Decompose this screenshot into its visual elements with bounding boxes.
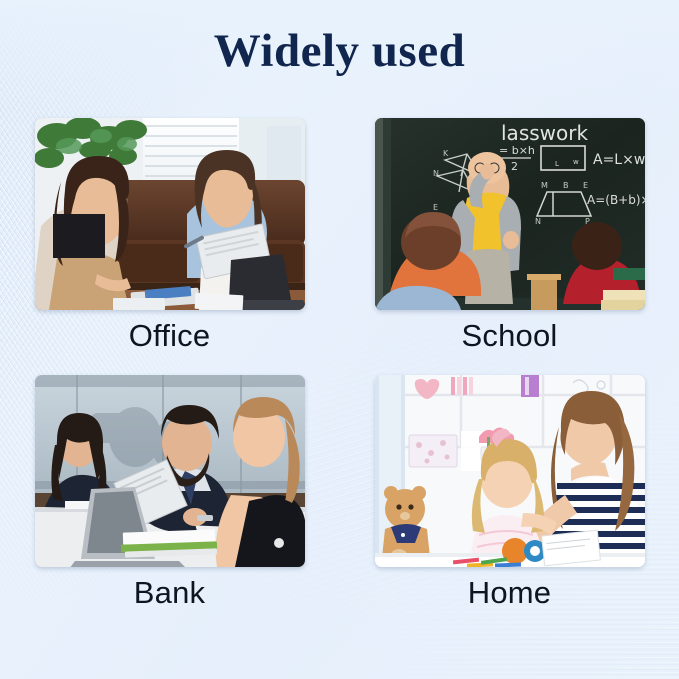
office-illustration [35, 118, 305, 310]
svg-text:N: N [535, 217, 541, 226]
office-caption: Office [129, 319, 211, 353]
svg-text:2: 2 [511, 160, 518, 173]
page-title: Widely used [0, 24, 679, 78]
usage-grid-row-1: Office l [0, 118, 679, 353]
svg-text:E: E [583, 181, 588, 190]
bank-illustration [35, 375, 305, 567]
home-photo [375, 375, 645, 567]
usage-grid-row-2: Bank [0, 375, 679, 610]
school-caption: School [462, 319, 558, 353]
svg-text:M: M [541, 181, 548, 190]
school-photo: lasswork K N E = b×h [375, 118, 645, 310]
bank-photo [35, 375, 305, 567]
home-illustration [375, 375, 645, 567]
svg-text:A=(B+b)×h: A=(B+b)×h [587, 193, 645, 207]
bank-caption: Bank [134, 576, 205, 610]
home-caption: Home [468, 576, 552, 610]
page-root: Widely used [0, 0, 679, 679]
usage-card-school[interactable]: lasswork K N E = b×h [375, 118, 645, 353]
usage-card-bank[interactable]: Bank [35, 375, 305, 610]
svg-text:L: L [555, 160, 559, 168]
usage-grid: Office l [0, 118, 679, 610]
usage-card-office[interactable]: Office [35, 118, 305, 353]
svg-text:= b×h: = b×h [499, 144, 535, 157]
blackboard-title: lasswork [501, 121, 588, 145]
school-illustration: lasswork K N E = b×h [375, 118, 645, 310]
svg-text:A=L×w: A=L×w [593, 152, 645, 168]
office-photo [35, 118, 305, 310]
svg-text:E: E [433, 203, 438, 212]
svg-text:B: B [563, 181, 569, 190]
svg-text:N: N [433, 169, 439, 178]
svg-text:K: K [443, 149, 449, 158]
svg-text:w: w [573, 158, 579, 166]
usage-card-home[interactable]: Home [375, 375, 645, 610]
